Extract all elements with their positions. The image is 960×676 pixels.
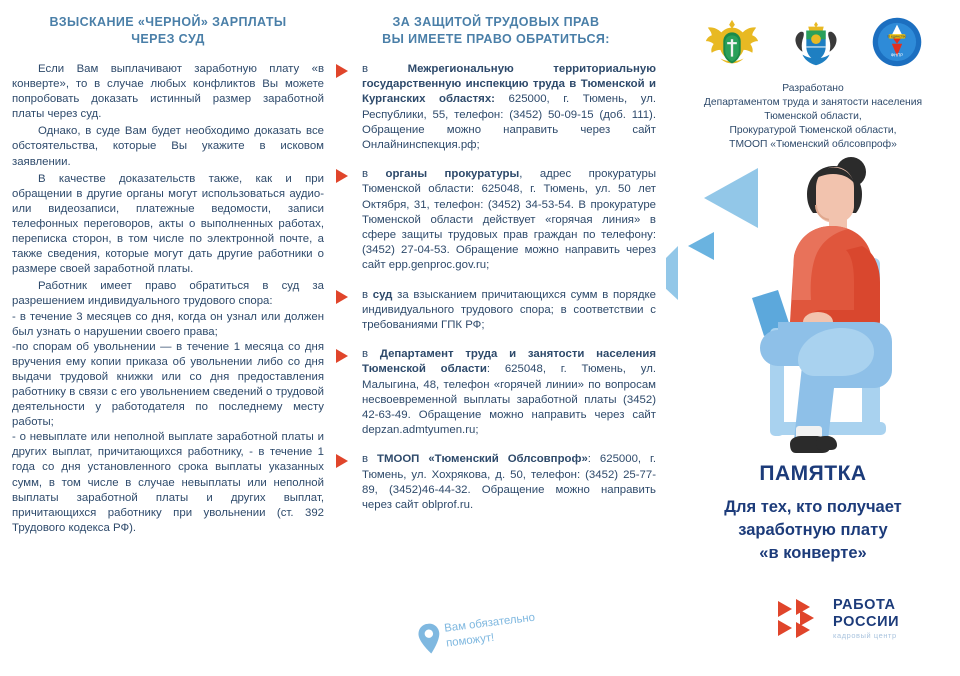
logo-line-1: РАБОТА (833, 598, 899, 613)
item-organization: суд (373, 289, 393, 301)
item-details: , адрес прокуратуры Тюменской области: 6… (362, 168, 656, 271)
triangle-bullet-icon (336, 454, 348, 468)
logo-line-2: РОССИИ (833, 615, 899, 630)
pin-note-text: Вам обязательно поможут! (444, 607, 567, 650)
triangle-bullet-icon (336, 290, 348, 304)
left-paragraph: В качестве доказательств также, как и пр… (12, 172, 324, 278)
contact-item: в ТМООП «Тюменский Облсовпроф»: 625000, … (336, 452, 656, 513)
left-column: ВЗЫСКАНИЕ «ЧЕРНОЙ» ЗАРПЛАТЫ ЧЕРЕЗ СУД Ес… (12, 14, 324, 536)
seated-woman-illustration (666, 150, 960, 470)
triangle-bullet-icon (336, 349, 348, 363)
memo-sub-line-1: Для тех, кто получает (724, 498, 902, 516)
tyumen-region-coat-of-arms-icon (787, 16, 845, 74)
rabota-rossii-logo: РАБОТА РОССИИ кадровый центр (778, 598, 899, 639)
item-lead: в (362, 168, 386, 180)
item-lead: в (362, 453, 377, 465)
brochure-page: ВЗЫСКАНИЕ «ЧЕРНОЙ» ЗАРПЛАТЫ ЧЕРЕЗ СУД Ес… (0, 0, 960, 676)
contact-item: в Департамент труда и занятости населени… (336, 347, 656, 438)
memo-subtitle: Для тех, кто получает заработную плату «… (666, 496, 960, 565)
left-paragraph: - в течение 3 месяцев со дня, когда он у… (12, 310, 324, 340)
pin-note: Вам обязательно поможут! (417, 607, 567, 655)
left-title-line-1: ВЗЫСКАНИЕ «ЧЕРНОЙ» ЗАРПЛАТЫ (49, 15, 286, 29)
credits-line: Прокуратурой Тюменской области, (666, 124, 960, 138)
contact-item: в Межрегиональную территориальную госуда… (336, 62, 656, 153)
left-paragraph: - о невыплате или неполной выплате зараб… (12, 430, 324, 536)
triangle-bullet-icon (336, 169, 348, 183)
decorative-triangle-small (688, 232, 714, 260)
trade-union-emblem-icon: В единстве ФНПР (871, 16, 923, 68)
logo-text: РАБОТА РОССИИ кадровый центр (833, 598, 899, 639)
credits-line: Департаментом труда и занятости населени… (666, 96, 960, 110)
svg-text:В единстве: В единстве (888, 35, 907, 39)
map-pin-icon (417, 622, 442, 654)
memo-sub-line-3: «в конверте» (759, 544, 866, 562)
chair-seat (774, 422, 886, 435)
middle-title-line-2: ВЫ ИМЕЕТЕ ПРАВО ОБРАТИТЬСЯ: (382, 32, 610, 46)
credits-line: Разработано (666, 82, 960, 96)
item-organization: органы прокуратуры (386, 168, 520, 180)
left-paragraph: Однако, в суде Вам будет необходимо дока… (12, 124, 324, 169)
middle-column-title: ЗА ЗАЩИТОЙ ТРУДОВЫХ ПРАВ ВЫ ИМЕЕТЕ ПРАВО… (336, 14, 656, 48)
item-lead: в (362, 348, 380, 360)
prosecutor-emblem-icon (703, 16, 761, 74)
left-paragraph: Если Вам выплачивают заработную плату «в… (12, 62, 324, 122)
memo-block: ПАМЯТКА Для тех, кто получает заработную… (666, 462, 960, 565)
item-lead: в (362, 289, 373, 301)
memo-sub-line-2: заработную плату (738, 521, 887, 539)
item-lead: в (362, 63, 408, 75)
logo-tagline: кадровый центр (833, 632, 899, 639)
decorative-triangle-large (704, 168, 758, 228)
credits-line: Тюменской области, (666, 110, 960, 124)
middle-column: ЗА ЗАЩИТОЙ ТРУДОВЫХ ПРАВ ВЫ ИМЕЕТЕ ПРАВО… (336, 14, 656, 527)
memo-title: ПАМЯТКА (666, 462, 960, 486)
left-paragraph: Работник имеет право обратиться в суд за… (12, 279, 324, 309)
contact-item: в суд за взысканием причитающихся сумм в… (336, 288, 656, 334)
left-paragraph: -по спорам об увольнении — в течение 1 м… (12, 340, 324, 431)
emblem-row: В единстве ФНПР (666, 16, 960, 78)
contact-item: в органы прокуратуры, адрес прокуратуры … (336, 167, 656, 273)
decorative-triangle-left (666, 246, 678, 300)
left-column-title: ВЗЫСКАНИЕ «ЧЕРНОЙ» ЗАРПЛАТЫ ЧЕРЕЗ СУД (12, 14, 324, 48)
middle-title-line-1: ЗА ЗАЩИТОЙ ТРУДОВЫХ ПРАВ (393, 15, 600, 29)
item-details: за взысканием причитающихся сумм в поряд… (362, 289, 656, 331)
left-title-line-2: ЧЕРЕЗ СУД (131, 32, 205, 46)
svg-text:ФНПР: ФНПР (891, 53, 904, 58)
credits-block: Разработано Департаментом труда и занято… (666, 82, 960, 152)
item-organization: ТМООП «Тюменский Облсовпроф» (377, 453, 588, 465)
right-column: В единстве ФНПР Разработано Департаменто… (666, 10, 960, 676)
shoe-back (816, 436, 837, 450)
rabota-rossii-mark-icon (778, 599, 824, 639)
triangle-bullet-icon (336, 64, 348, 78)
